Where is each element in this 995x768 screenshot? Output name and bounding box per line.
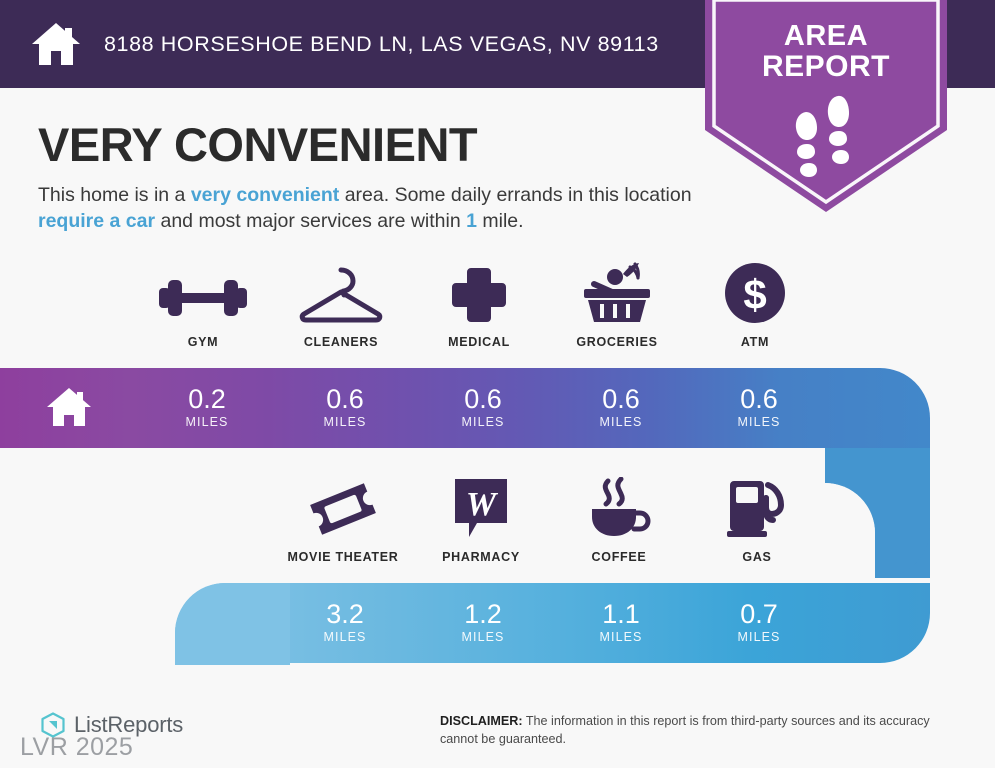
distance-value: 0.7 bbox=[740, 600, 778, 628]
distance-unit: MILES bbox=[599, 630, 642, 644]
distance-cell: 3.2 MILES bbox=[276, 583, 414, 661]
desc-highlight-2: require a car bbox=[38, 210, 155, 232]
amenity-atm: $ ATM bbox=[686, 262, 824, 349]
amenity-label: GAS bbox=[742, 550, 771, 564]
desc-text-4: mile. bbox=[477, 210, 524, 232]
amenity-groceries: GROCERIES bbox=[548, 262, 686, 349]
distance-cell: 1.2 MILES bbox=[414, 583, 552, 661]
distance-value: 0.2 bbox=[188, 385, 226, 413]
medical-cross-icon bbox=[450, 262, 508, 324]
distance-cell: 0.6 MILES bbox=[552, 368, 690, 446]
distance-value: 0.6 bbox=[602, 385, 640, 413]
distance-cell: 1.1 MILES bbox=[552, 583, 690, 661]
svg-text:$: $ bbox=[743, 271, 766, 318]
distance-unit: MILES bbox=[599, 415, 642, 429]
distance-cell: 0.6 MILES bbox=[690, 368, 828, 446]
distance-unit: MILES bbox=[323, 630, 366, 644]
walgreens-w-icon: W bbox=[453, 477, 509, 539]
distance-cell: 0.7 MILES bbox=[690, 583, 828, 661]
area-report-badge: AREA REPORT bbox=[705, 0, 947, 212]
summary-description: This home is in a very convenient area. … bbox=[38, 182, 708, 234]
distance-unit: MILES bbox=[737, 415, 780, 429]
desc-text-2: area. Some daily errands in this locatio… bbox=[339, 184, 691, 206]
distance-value: 0.6 bbox=[326, 385, 364, 413]
distance-unit: MILES bbox=[461, 630, 504, 644]
dumbbell-icon bbox=[157, 262, 249, 324]
desc-text-1: This home is in a bbox=[38, 184, 191, 206]
amenity-pharmacy: W PHARMACY bbox=[412, 477, 550, 564]
amenity-label: GROCERIES bbox=[576, 335, 657, 349]
home-location-marker bbox=[0, 368, 138, 446]
distance-value: 0.6 bbox=[464, 385, 502, 413]
amenity-gym: GYM bbox=[134, 262, 272, 349]
desc-highlight-1: very convenient bbox=[191, 184, 339, 206]
distance-unit: MILES bbox=[185, 415, 228, 429]
amenity-medical: MEDICAL bbox=[410, 262, 548, 349]
distance-cell: 0.6 MILES bbox=[276, 368, 414, 446]
distance-cell: 0.6 MILES bbox=[414, 368, 552, 446]
distance-value: 3.2 bbox=[326, 600, 364, 628]
amenity-movie-theater: MOVIE THEATER bbox=[274, 477, 412, 564]
distance-unit: MILES bbox=[323, 415, 366, 429]
distance-row-1: 0.2 MILES 0.6 MILES 0.6 MILES 0.6 MILES … bbox=[138, 368, 828, 446]
page-title: VERY CONVENIENT bbox=[38, 117, 477, 172]
svg-text:W: W bbox=[466, 486, 499, 523]
movie-ticket-icon bbox=[310, 477, 376, 539]
amenity-gas: GAS bbox=[688, 477, 826, 564]
clothes-hanger-icon bbox=[298, 262, 384, 324]
gas-pump-icon bbox=[726, 477, 788, 539]
grocery-basket-icon bbox=[582, 262, 652, 324]
home-icon bbox=[30, 20, 82, 68]
amenity-label: MEDICAL bbox=[448, 335, 510, 349]
amenity-label: COFFEE bbox=[592, 550, 647, 564]
distance-row-2: 3.2 MILES 1.2 MILES 1.1 MILES 0.7 MILES bbox=[276, 583, 828, 661]
distance-value: 1.1 bbox=[602, 600, 640, 628]
distance-value: 0.6 bbox=[740, 385, 778, 413]
desc-highlight-3: 1 bbox=[466, 210, 477, 232]
amenity-label: ATM bbox=[741, 335, 769, 349]
desc-text-3: and most major services are within bbox=[155, 210, 466, 232]
amenity-label: GYM bbox=[188, 335, 219, 349]
distance-value: 1.2 bbox=[464, 600, 502, 628]
amenity-label: CLEANERS bbox=[304, 335, 378, 349]
disclaimer: DISCLAIMER: The information in this repo… bbox=[440, 712, 960, 748]
area-report-page: 8188 HORSESHOE BEND LN, LAS VEGAS, NV 89… bbox=[0, 0, 995, 768]
distance-unit: MILES bbox=[737, 630, 780, 644]
amenity-cleaners: CLEANERS bbox=[272, 262, 410, 349]
distance-cell: 0.2 MILES bbox=[138, 368, 276, 446]
coffee-cup-icon bbox=[586, 477, 652, 539]
amenity-label: PHARMACY bbox=[442, 550, 520, 564]
header-content: 8188 HORSESHOE BEND LN, LAS VEGAS, NV 89… bbox=[30, 0, 659, 88]
amenity-coffee: COFFEE bbox=[550, 477, 688, 564]
disclaimer-label: DISCLAIMER: bbox=[440, 714, 523, 728]
distance-unit: MILES bbox=[461, 415, 504, 429]
property-address: 8188 HORSESHOE BEND LN, LAS VEGAS, NV 89… bbox=[104, 32, 659, 57]
amenity-icon-row-1: GYM CLEANERS MEDICAL bbox=[134, 262, 824, 349]
amenity-label: MOVIE THEATER bbox=[288, 550, 399, 564]
dollar-circle-icon: $ bbox=[724, 262, 786, 324]
amenity-icon-row-2: MOVIE THEATER W PHARMACY COFFEE bbox=[274, 477, 826, 564]
watermark: LVR 2025 bbox=[20, 733, 133, 762]
